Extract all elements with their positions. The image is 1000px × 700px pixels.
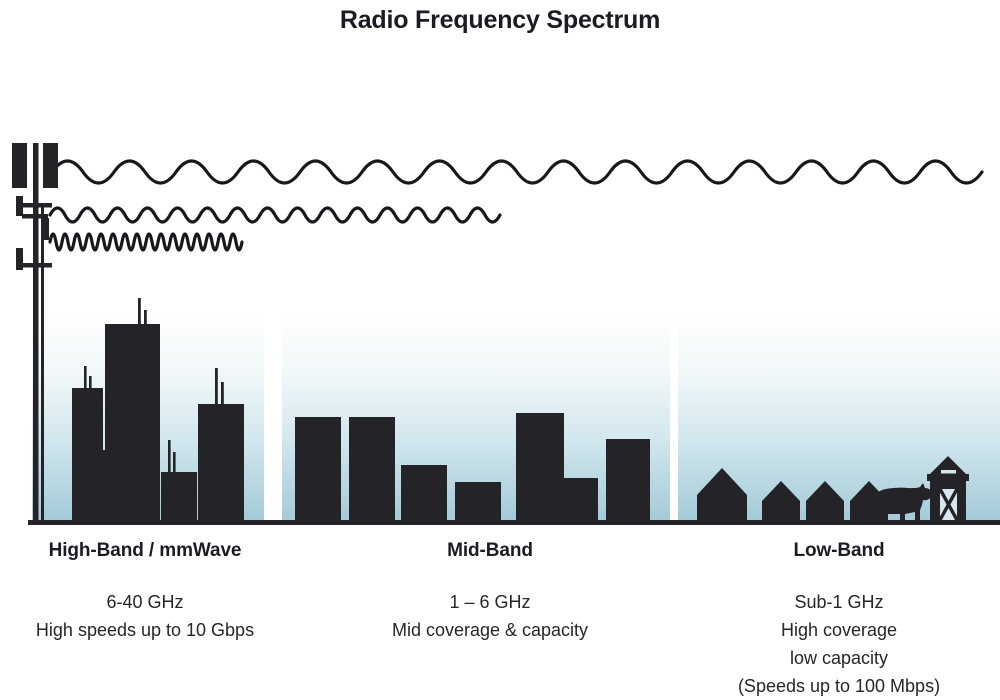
building-mid-5-wing [564,478,598,520]
band-caption-mid-band: Mid-Band 1 – 6 GHz Mid coverage & capaci… [340,540,640,644]
tower-antenna-panel-small-mid [42,218,49,240]
band-captions: High-Band / mmWave 6-40 GHz High speeds … [0,540,1000,700]
building-high-3 [99,450,117,520]
radio-spectrum-infographic: Radio Frequency Spectrum [0,0,1000,700]
band-name-mid-band: Mid-Band [340,540,640,562]
radio-waves [50,161,982,250]
band-frequency-low-band: Sub-1 GHz [678,588,1000,616]
tower-antenna-panel-small-left [16,196,23,216]
band-frequency-high-band: 6-40 GHz [0,588,290,616]
band-caption-low-band: Low-Band Sub-1 GHz High coverage low cap… [678,540,1000,700]
tower-mast [33,143,39,520]
band-name-high-band: High-Band / mmWave [0,540,290,562]
tower-antenna-panel-small-low [16,248,23,270]
band-frequency-mid-band: 1 – 6 GHz [340,588,640,616]
mid-frequency-wave [50,208,500,222]
tower-crossbar-upper [22,203,52,208]
tower-crossbar-lower [22,263,52,268]
building-spire [173,452,176,472]
band-description-mid-band-0: Mid coverage & capacity [340,616,640,644]
building-high-5 [198,404,244,520]
band-caption-high-band: High-Band / mmWave 6-40 GHz High speeds … [0,540,290,644]
building-spire [168,440,171,472]
tower-crossbar-middle [22,214,48,219]
building-mid-3 [401,465,447,520]
building-spire [215,368,218,406]
tower-antenna-panel-right [43,143,58,188]
building-mid-6 [606,439,650,520]
band-description-low-band-2: (Speeds up to 100 Mbps) [678,672,1000,700]
page-title: Radio Frequency Spectrum [0,0,1000,40]
band-description-low-band-0: High coverage [678,616,1000,644]
building-mid-5 [516,413,564,520]
band-name-low-band: Low-Band [678,540,1000,562]
tower-mast-secondary [41,206,44,520]
low-frequency-wave [52,161,982,183]
building-high-4 [161,472,197,520]
band-description-high-band-0: High speeds up to 10 Gbps [0,616,290,644]
tower-antenna-panel-left [12,143,27,188]
building-mid-1 [295,417,341,520]
scene-svg [0,120,1000,530]
building-mid-4 [455,482,501,520]
building-mid-2 [349,417,395,520]
building-high-1 [72,388,103,520]
barn-loft-vent [941,470,956,474]
spectrum-illustration [0,120,1000,530]
high-frequency-wave [50,234,242,250]
building-spire [221,382,224,406]
band-description-low-band-1: low capacity [678,644,1000,672]
ground-line [28,520,1000,525]
